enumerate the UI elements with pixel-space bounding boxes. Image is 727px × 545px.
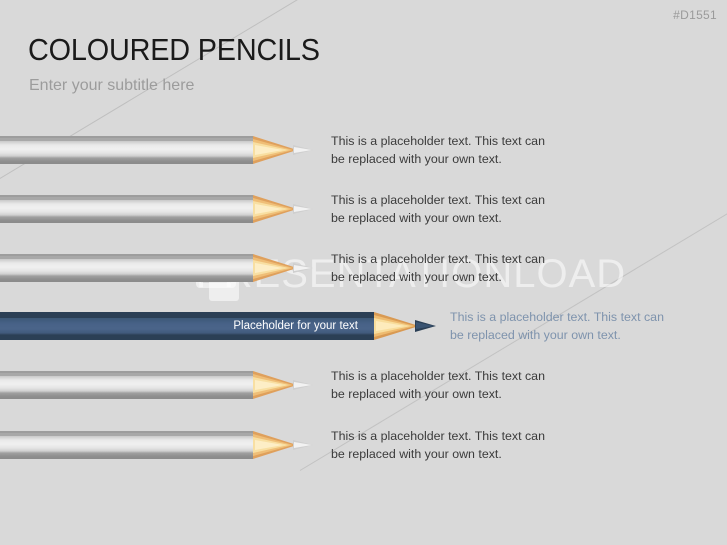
row-description[interactable]: This is a placeholder text. This text ca… bbox=[331, 133, 545, 168]
page-subtitle[interactable]: Enter your subtitle here bbox=[29, 77, 194, 95]
pencil-barrel[interactable] bbox=[0, 195, 253, 223]
row-description[interactable]: This is a placeholder text. This text ca… bbox=[331, 251, 545, 286]
slide-canvas: PRESENTATIONLOAD #D1551 COLOURED PENCILS… bbox=[0, 0, 727, 545]
pencil-tip-icon bbox=[253, 431, 315, 459]
pencil-tip-icon bbox=[253, 136, 315, 164]
pencil-barrel-label[interactable]: Placeholder for your text bbox=[233, 312, 358, 340]
document-code: #D1551 bbox=[673, 8, 717, 22]
pencil-barrel-highlighted[interactable]: Placeholder for your text bbox=[0, 312, 374, 340]
pencil-tip-icon bbox=[374, 312, 438, 340]
pencil-barrel[interactable] bbox=[0, 431, 253, 459]
row-description[interactable]: This is a placeholder text. This text ca… bbox=[331, 192, 545, 227]
row-description[interactable]: This is a placeholder text. This text ca… bbox=[331, 428, 545, 463]
pencil-tip-icon bbox=[253, 195, 315, 223]
page-title[interactable]: COLOURED PENCILS bbox=[28, 33, 320, 67]
row-description-highlighted[interactable]: This is a placeholder text. This text ca… bbox=[450, 309, 664, 344]
pencil-barrel[interactable] bbox=[0, 371, 253, 399]
pencil-tip-icon bbox=[253, 371, 315, 399]
pencil-tip-icon bbox=[253, 254, 315, 282]
row-description[interactable]: This is a placeholder text. This text ca… bbox=[331, 368, 545, 403]
pencil-barrel[interactable] bbox=[0, 254, 253, 282]
pencil-barrel[interactable] bbox=[0, 136, 253, 164]
